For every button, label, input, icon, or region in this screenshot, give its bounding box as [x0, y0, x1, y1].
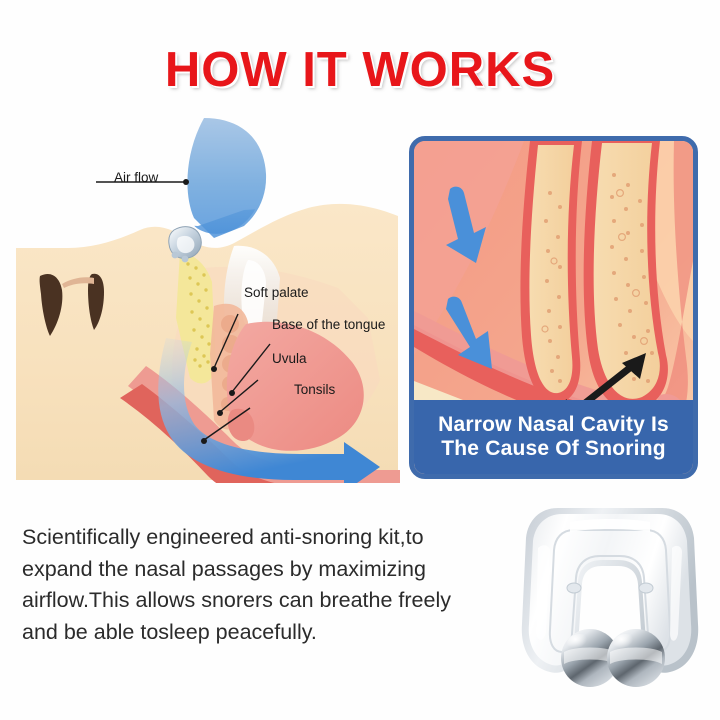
page-root: HOW IT WORKS: [0, 0, 720, 720]
narrow-nasal-cavity-panel: Narrow Nasal Cavity Is The Cause Of Snor…: [409, 136, 698, 479]
page-title: HOW IT WORKS: [0, 42, 720, 98]
inferior-turbinate: [520, 141, 582, 403]
panel-caption: Narrow Nasal Cavity Is The Cause Of Snor…: [414, 400, 693, 474]
label-tonsils: Tonsils: [294, 382, 335, 397]
nose-clip-svg: [512, 492, 708, 698]
caption-line-2: The Cause Of Snoring: [441, 437, 666, 461]
caption-line-1: Narrow Nasal Cavity Is: [438, 413, 669, 437]
air-inflow-band: [187, 118, 266, 238]
product-description: Scientifically engineered anti-snoring k…: [22, 522, 492, 648]
magnet-ball-right: [607, 629, 665, 687]
description-line-3: airflow.This allows snorers can breathe …: [22, 585, 492, 617]
head-cross-section-svg: [8, 118, 408, 490]
description-line-2: expand the nasal passages by maximizing: [22, 554, 492, 586]
left-anatomy-illustration: Air flow Soft palate Base of the tongue …: [8, 118, 408, 490]
label-uvula: Uvula: [272, 351, 307, 366]
label-base-of-tongue: Base of the tongue: [272, 317, 385, 332]
description-line-1: Scientifically engineered anti-snoring k…: [22, 522, 492, 554]
description-line-4: and be able tosleep peacefully.: [22, 617, 492, 649]
label-soft-palate: Soft palate: [244, 285, 309, 300]
product-image: [512, 492, 708, 698]
label-air-flow: Air flow: [114, 170, 158, 185]
